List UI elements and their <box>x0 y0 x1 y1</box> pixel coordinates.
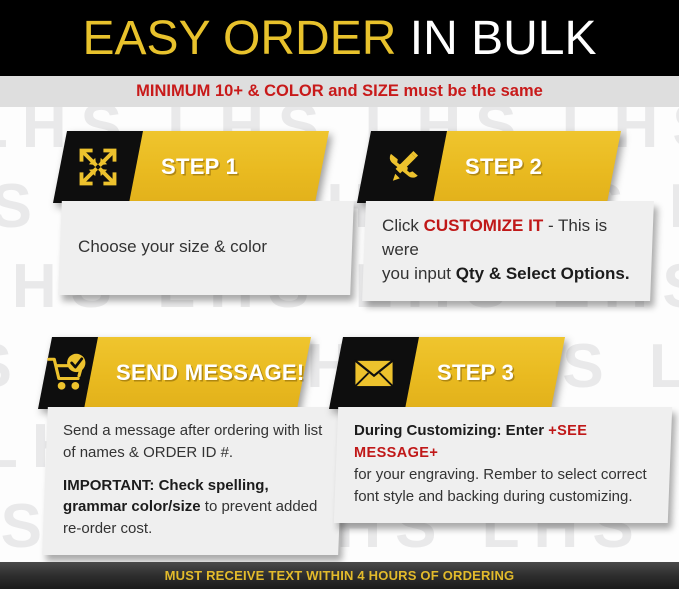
card-send-message-label: SEND MESSAGE! <box>90 360 304 386</box>
footer-bar: MUST RECEIVE TEXT WITHIN 4 HOURS OF ORDE… <box>0 562 679 589</box>
card-step-3-body: During Customizing: Enter +SEE MESSAGE+ … <box>334 407 672 523</box>
subtitle-part-4: must be the same <box>399 82 543 100</box>
colorsize-text: color/size <box>131 498 200 515</box>
subtitle-part-3: SIZE <box>362 82 399 100</box>
card-step-2-body: Click CUSTOMIZE IT - This is were you in… <box>362 201 654 301</box>
card-step-3-text-a: During Customizing: Enter <box>354 422 548 439</box>
card-step-2-text-a: Click <box>382 216 424 235</box>
card-step-1-header: STEP 1 <box>60 131 322 203</box>
page-title-white <box>396 12 409 65</box>
important-label: IMPORTANT: <box>63 477 154 494</box>
card-step-3: STEP 3 During Customizing: Enter +SEE ME… <box>336 337 656 523</box>
card-step-3-line-3: font style and backing during customizin… <box>354 486 654 508</box>
flyer-root: LHS LHS LHS LHS LHS LHS LHS LHS LHS LHS … <box>0 0 679 589</box>
footer-text: MUST RECEIVE TEXT WITHIN 4 HOURS OF ORDE… <box>165 568 515 583</box>
card-step-3-line-1: During Customizing: Enter +SEE MESSAGE+ <box>354 420 654 464</box>
card-send-message-paragraph-2: IMPORTANT: Check spelling, grammar color… <box>63 475 325 540</box>
card-step-2-body-inner: Click CUSTOMIZE IT - This is were you in… <box>382 214 636 286</box>
card-step-2-line-1: Click CUSTOMIZE IT - This is were <box>382 214 636 262</box>
card-step-2-header: STEP 2 <box>364 131 614 203</box>
card-step-3-label: STEP 3 <box>411 360 514 386</box>
card-step-3-label-wrap: STEP 3 <box>404 337 565 409</box>
card-send-message: SEND MESSAGE! Send a message after order… <box>45 337 335 555</box>
card-send-message-paragraph-1: Send a message after ordering with list … <box>63 420 325 464</box>
wrench-pencil-icon <box>357 131 447 203</box>
card-step-1-label: STEP 1 <box>135 154 238 180</box>
card-send-message-body: Send a message after ordering with list … <box>42 407 344 555</box>
subtitle-text: MINIMUM 10+ & COLOR and SIZE must be the… <box>136 82 543 101</box>
card-step-1-label-wrap: STEP 1 <box>128 131 329 203</box>
card-step-1: STEP 1 Choose your size & color <box>60 131 338 295</box>
card-step-2-text-d: you input <box>382 264 456 283</box>
card-step-1-body: Choose your size & color <box>58 201 354 295</box>
subtitle-band: MINIMUM 10+ & COLOR and SIZE must be the… <box>0 76 679 107</box>
card-step-2-label: STEP 2 <box>439 154 542 180</box>
subtitle-part-2: and <box>324 82 363 100</box>
card-step-2-label-wrap: STEP 2 <box>432 131 621 203</box>
card-send-message-body-inner: Send a message after ordering with list … <box>63 420 325 540</box>
card-send-message-label-wrap: SEND MESSAGE! <box>83 337 311 409</box>
card-step-2-highlight: CUSTOMIZE IT <box>424 216 544 235</box>
card-step-1-line-1: Choose your size & color <box>78 235 267 259</box>
page-title-gold: EASY ORDER <box>83 12 397 65</box>
card-send-message-header: SEND MESSAGE! <box>45 337 295 409</box>
subtitle-part-1: MINIMUM 10+ & COLOR <box>136 82 323 100</box>
card-step-2-line-2: you input Qty & Select Options. <box>382 262 636 286</box>
header-banner: EASY ORDER IN BULK <box>0 0 679 76</box>
card-step-2: STEP 2 Click CUSTOMIZE IT - This is were… <box>364 131 642 301</box>
page-title: EASY ORDER IN BULK <box>83 11 597 66</box>
envelope-icon <box>329 337 419 409</box>
paragraph-spacer <box>63 464 325 475</box>
card-step-2-text-bold: Qty & Select Options. <box>456 264 630 283</box>
expand-arrows-icon <box>53 131 143 203</box>
card-step-3-line-2: for your engraving. Rember to select cor… <box>354 464 654 486</box>
card-step-3-body-inner: During Customizing: Enter +SEE MESSAGE+ … <box>354 420 654 508</box>
card-step-1-body-inner: Choose your size & color <box>78 235 267 259</box>
card-step-3-header: STEP 3 <box>336 337 558 409</box>
page-title-white-text: IN BULK <box>410 12 597 65</box>
